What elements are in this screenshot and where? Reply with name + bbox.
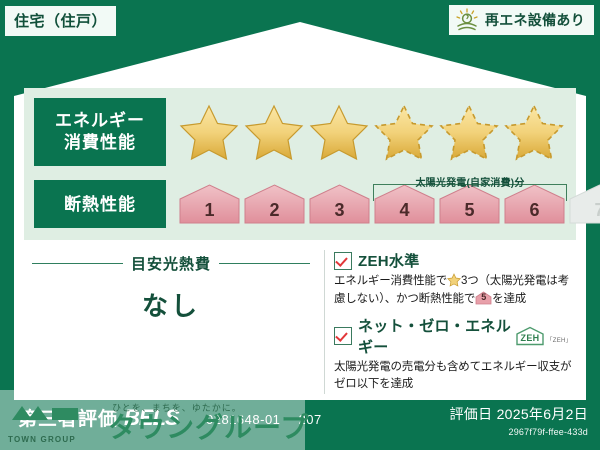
- star-icon-dashed-6: [503, 102, 565, 162]
- record-id: 2967f79f-ffee-433d: [449, 427, 588, 437]
- insulation-level-2-value: 2: [269, 200, 279, 225]
- utility-cost-value: なし: [32, 286, 310, 323]
- section-divider: [324, 250, 325, 394]
- bels-number-value: 0281648-01: [206, 412, 280, 427]
- claim-net-zero-energy-body: 太陽光発電の売電分も含めてエネルギー収支がゼロ以下を達成: [334, 359, 572, 395]
- cost-heading-text: 目安光熱費: [131, 253, 211, 274]
- header-subtitle: 建築物省エネ法に基づく: [0, 38, 600, 57]
- evaluation-date-value: 2025年6月2日: [497, 406, 588, 422]
- insulation-level-3: 3: [308, 183, 371, 225]
- insulation-level-4-value: 4: [399, 200, 409, 225]
- bels-label: BELS: [124, 405, 179, 431]
- star-rating: [178, 102, 565, 162]
- cost-rule-right: [219, 263, 310, 264]
- evaluation-date-block: 評価日 2025年6月2日 2967f79f-ffee-433d: [449, 404, 588, 437]
- insulation-level-7-value: 7: [594, 200, 600, 225]
- claim-zeh-standard-body: エネルギー消費性能で3つ（太陽光発電は考慮しない）、かつ断熱性能で5を達成: [334, 273, 572, 309]
- utility-cost-heading: 目安光熱費: [32, 254, 310, 272]
- bels-number: 0281648-01 207: [206, 412, 322, 427]
- checkbox-checked-icon-2: [334, 327, 352, 345]
- renewable-equipment-badge: 再エネ設備あり: [449, 5, 594, 35]
- energy-row-label: エネルギー 消費性能: [34, 98, 166, 166]
- insulation-level-6-value: 6: [529, 200, 539, 225]
- insulation-level-2: 2: [243, 183, 306, 225]
- solar-caption: 太陽光発電(自家消費)分: [370, 174, 570, 189]
- star-icon-dashed-5: [438, 102, 500, 162]
- insulation-level-5-value: 5: [464, 200, 474, 225]
- star-icon-solid-3: [308, 102, 370, 162]
- bels-mark: 第三者評価 BELS: [18, 404, 179, 431]
- inline-house-icon: 5: [475, 291, 492, 305]
- inline-star-icon: [447, 273, 461, 287]
- claim-net-zero-energy-title: ネット・ゼロ・エネルギー ZEH 「ZEH」: [358, 315, 572, 357]
- claim-net-zero-label: ネット・ゼロ・エネルギー: [358, 315, 511, 357]
- details-section: 目安光熱費 なし ZEH水準 エネルギー消費性能で3つ（太陽光発電は考慮しない）…: [24, 244, 576, 400]
- insulation-label-text: 断熱性能: [34, 196, 166, 213]
- claim-net-zero-energy-head: ネット・ゼロ・エネルギー ZEH 「ZEH」: [334, 315, 572, 357]
- page-title: 省エネ性能ラベル: [0, 57, 600, 92]
- renewable-badge-label: 再エネ設備あり: [485, 10, 585, 30]
- energy-consumption-row: エネルギー 消費性能: [24, 96, 565, 168]
- claim-zeh-standard-head: ZEH水準: [334, 250, 572, 271]
- energy-label-line2: 消費性能: [34, 132, 166, 154]
- checkbox-checked-icon: [334, 252, 352, 270]
- cost-rule-left: [32, 263, 123, 264]
- star-icon-solid-2: [243, 102, 305, 162]
- claim-net-zero-energy: ネット・ゼロ・エネルギー ZEH 「ZEH」 太陽光発電の売電分も含めてエネルギ…: [334, 315, 572, 395]
- sun-icon: [454, 8, 480, 32]
- evaluation-date: 評価日 2025年6月2日: [449, 404, 588, 424]
- insulation-level-7: 7: [568, 183, 600, 225]
- claim-zeh-standard: ZEH水準 エネルギー消費性能で3つ（太陽光発電は考慮しない）、かつ断熱性能で5…: [334, 250, 572, 309]
- insulation-level-3-value: 3: [334, 200, 344, 225]
- zeh-logo: ZEH 「ZEH」: [515, 326, 572, 346]
- energy-performance-label: 建築物省エネ法に基づく 省エネ性能ラベル 住宅（住戸） 再エネ設備あり 太陽光発…: [0, 0, 600, 450]
- star-icon-solid-1: [178, 102, 240, 162]
- inline-house-value: 5: [475, 291, 492, 305]
- zeh-logo-note: 「ZEH」: [546, 335, 572, 346]
- room-number: 207: [299, 412, 322, 427]
- energy-label-line1: エネルギー: [34, 110, 166, 132]
- svg-text:ZEH: ZEH: [521, 333, 540, 343]
- third-party-label: 第三者評価: [18, 404, 118, 431]
- zeh-icon: ZEH: [515, 326, 545, 346]
- footer: 第三者評価 BELS 0281648-01 207 評価日 2025年6月2日 …: [0, 398, 600, 450]
- evaluation-date-label: 評価日: [449, 406, 492, 422]
- insulation-level-1: 1: [178, 183, 241, 225]
- star-icon-dashed-4: [373, 102, 435, 162]
- building-type-badge: 住宅（住戸）: [5, 6, 116, 36]
- claim-zeh-standard-title: ZEH水準: [358, 250, 420, 271]
- claims-list: ZEH水準 エネルギー消費性能で3つ（太陽光発電は考慮しない）、かつ断熱性能で5…: [334, 250, 572, 400]
- performance-panel: 太陽光発電(自家消費)分 エネルギー 消費性能: [24, 88, 576, 240]
- insulation-row-label: 断熱性能: [34, 180, 166, 228]
- insulation-level-1-value: 1: [204, 200, 214, 225]
